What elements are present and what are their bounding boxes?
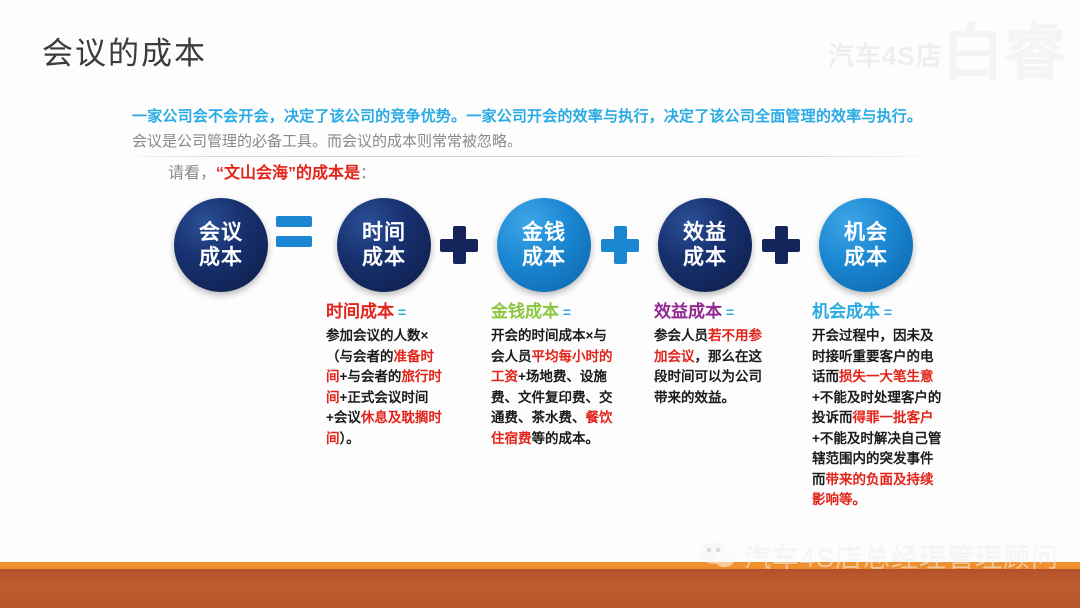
body-text: 参会人员: [654, 328, 708, 343]
cost-column-heading-label: 金钱成本: [491, 302, 559, 321]
bubble-label-line2: 成本: [522, 245, 566, 270]
bubble-label-line1: 金钱: [522, 220, 566, 245]
cost-formula-row: 会议成本时间成本金钱成本效益成本机会成本: [0, 190, 1080, 300]
sub-intro-emphasis: “文山会海”的成本是: [216, 165, 360, 182]
cost-column-body: 参会人员若不用参加会议，那么在这段时间可以为公司带来的效益。: [654, 326, 772, 408]
brand-seal-calligraphy: 白睿: [942, 10, 1066, 96]
cost-column-body: 参加会议的人数×（与会者的准备时间+与会者的旅行时间+正式会议时间+会议休息及耽…: [326, 326, 446, 449]
intro-paragraph: 一家公司会不会开会，决定了该公司的竞争优势。一家公司开会的效率与执行，决定了该公…: [132, 104, 922, 154]
cost-column-heading: 金钱成本 =: [491, 300, 613, 324]
sub-intro-colon: ：: [360, 165, 376, 182]
bubble-label-line2: 成本: [362, 245, 406, 270]
footer-brown-band: [0, 569, 1080, 608]
bubble-label-line1: 机会: [844, 220, 888, 245]
slide-canvas: 会议的成本 汽车4S店 白睿 一家公司会不会开会，决定了该公司的竞争优势。一家公…: [0, 0, 1080, 608]
cost-column-heading-equals: =: [394, 304, 406, 320]
bubble-label-line1: 会议: [199, 220, 243, 245]
cost-column-heading: 时间成本 =: [326, 300, 446, 324]
cost-column-heading: 机会成本 =: [812, 300, 942, 324]
cost-bubble-time-cost: 时间成本: [337, 198, 431, 292]
cost-column-heading-label: 机会成本: [812, 302, 880, 321]
cost-column-heading-equals: =: [722, 304, 734, 320]
intro-plain-text: 会议是公司管理的必备工具。而会议的成本则常常被忽略。: [132, 133, 522, 150]
cost-column-4: 机会成本 =开会过程中，因未及时接听重要客户的电话而损失一大笔生意+不能及时处理…: [812, 300, 942, 511]
operator-plus-2: [601, 226, 639, 264]
brand-watermark: 汽车4S店 白睿: [822, 8, 1072, 94]
operator-equals: [276, 216, 312, 247]
cost-column-heading-equals: =: [880, 304, 892, 320]
emphasis-text: 损失一大笔生意: [839, 369, 934, 384]
sub-intro-prefix: 请看，: [168, 165, 216, 182]
body-text: +与会者的: [340, 369, 402, 384]
cost-column-2: 金钱成本 =开会的时间成本×与会人员平均每小时的工资+场地费、设施费、文件复印费…: [491, 300, 613, 449]
cost-column-1: 时间成本 =参加会议的人数×（与会者的准备时间+与会者的旅行时间+正式会议时间+…: [326, 300, 446, 449]
body-text: ）。: [340, 431, 360, 446]
cost-bubble-benefit-cost: 效益成本: [658, 198, 752, 292]
bubble-label-line1: 时间: [362, 220, 406, 245]
cost-bubble-chance-cost: 机会成本: [819, 198, 913, 292]
cost-column-heading: 效益成本 =: [654, 300, 772, 324]
slide-header: 会议的成本 汽车4S店 白睿: [0, 0, 1080, 92]
cost-column-heading-label: 效益成本: [654, 302, 722, 321]
footer-orange-stripe: [0, 562, 1080, 569]
cost-column-body: 开会过程中，因未及时接听重要客户的电话而损失一大笔生意+不能及时处理客户的投诉而…: [812, 326, 942, 511]
operator-plus-3: [762, 226, 800, 264]
cost-column-3: 效益成本 =参会人员若不用参加会议，那么在这段时间可以为公司带来的效益。: [654, 300, 772, 408]
cost-column-heading-equals: =: [559, 304, 571, 320]
bubble-label-line2: 成本: [199, 245, 243, 270]
emphasis-text: 带来的负面及持续影响等。: [812, 472, 934, 508]
brand-watermark-text: 汽车4S店: [828, 36, 943, 73]
bubble-label-line2: 成本: [683, 245, 727, 270]
body-text: 等的成本。: [532, 431, 600, 446]
cost-bubble-money-cost: 金钱成本: [497, 198, 591, 292]
cost-column-heading-label: 时间成本: [326, 302, 394, 321]
cost-bubble-meeting-cost: 会议成本: [174, 198, 268, 292]
bubble-label-line1: 效益: [683, 220, 727, 245]
sub-intro-line: 请看，“文山会海”的成本是：: [168, 162, 376, 186]
bubble-label-line2: 成本: [844, 245, 888, 270]
cost-column-body: 开会的时间成本×与会人员平均每小时的工资+场地费、设施费、文件复印费、交通费、茶…: [491, 326, 613, 449]
intro-highlight-text: 一家公司会不会开会，决定了该公司的竞争优势。一家公司开会的效率与执行，决定了该公…: [132, 108, 922, 125]
intro-divider: [110, 156, 950, 157]
operator-plus-1: [440, 226, 478, 264]
page-title: 会议的成本: [42, 28, 207, 73]
emphasis-text: 得罪一批客户: [853, 410, 934, 425]
